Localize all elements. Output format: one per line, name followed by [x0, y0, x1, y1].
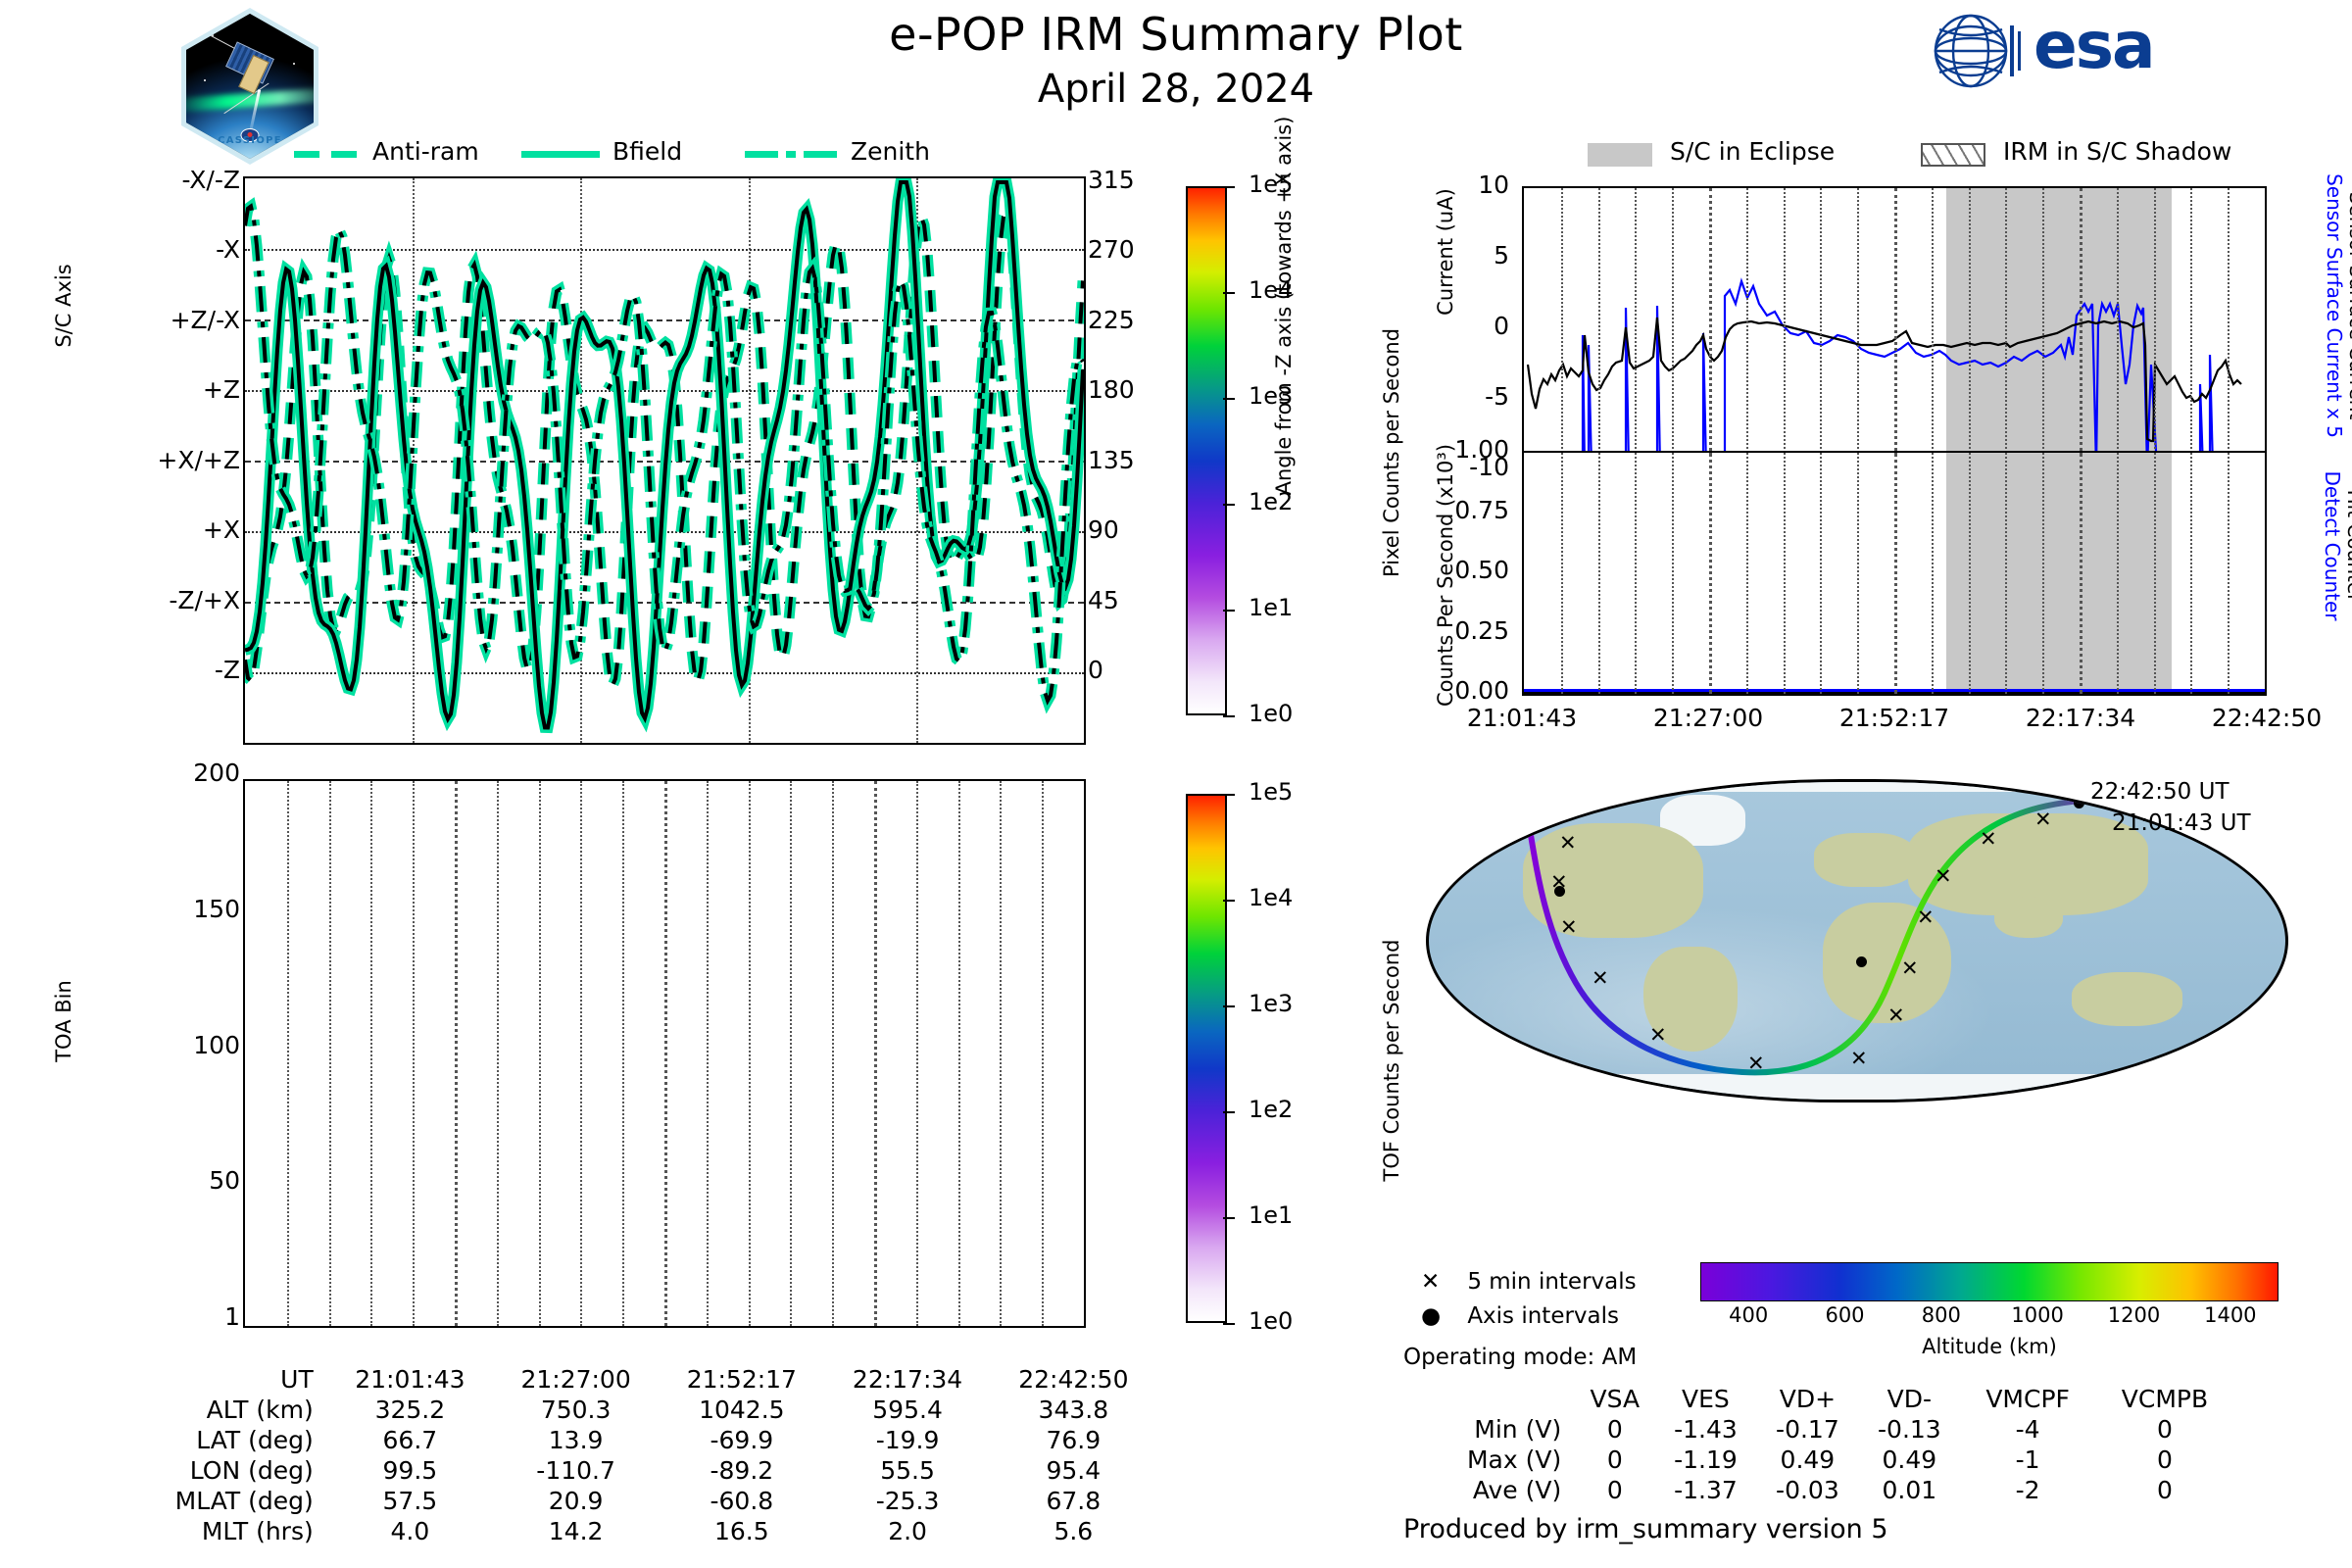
gridline-vertical	[539, 781, 541, 1326]
table-cell: 343.8	[991, 1395, 1156, 1425]
map-key-axis-label: Axis intervals	[1467, 1303, 1619, 1329]
table-row: LAT (deg)66.713.9-69.9-19.976.9	[98, 1425, 1156, 1455]
tick-label: 225	[1088, 306, 1156, 334]
legend-label-anti-ram: Anti-ram	[372, 137, 479, 166]
table-cell: 22:17:34	[824, 1364, 990, 1395]
colorbar-tick-label: 1e2	[1249, 1096, 1293, 1123]
altitude-tick-label: 1000	[1988, 1303, 2086, 1327]
pixel-counts-colorbar-label: Pixel Counts per Second	[1380, 237, 1403, 668]
table-cell: 0.01	[1858, 1475, 1960, 1505]
table-cell: -2	[1960, 1475, 2095, 1505]
table-cell: 55.5	[824, 1455, 990, 1486]
interval-marker: ✕	[1649, 1025, 1667, 1046]
table-cell: -4	[1960, 1414, 2095, 1445]
colorbar-tick-label: 1e5	[1249, 171, 1293, 198]
gridline-vertical	[2190, 188, 2192, 468]
gridline-vertical	[580, 781, 582, 1326]
colorbar-tick-label: 1e4	[1249, 276, 1293, 304]
table-cell: 325.2	[327, 1395, 493, 1425]
tick-label: 0.75	[1401, 496, 1509, 524]
gridline-vertical	[1709, 188, 1712, 468]
legend-swatch-zenith	[745, 151, 778, 158]
legend-swatch-anti-ram	[294, 151, 319, 158]
tick-label: -X	[118, 235, 240, 264]
gridline-vertical	[1709, 453, 1712, 694]
tick-label: -Z/+X	[118, 586, 240, 614]
table-cell: 0	[2095, 1414, 2234, 1445]
colorbar-tick-label: 1e4	[1249, 884, 1293, 911]
table-cell: 67.8	[991, 1486, 1156, 1516]
tick-label: +Z/-X	[118, 306, 240, 334]
row-label: MLT (hrs)	[98, 1516, 327, 1546]
row-label: Max (V)	[1401, 1445, 1575, 1475]
gridline-vertical	[707, 781, 709, 1326]
interval-marker: ✕	[1592, 968, 1609, 989]
table-cell: 21:01:43	[327, 1364, 493, 1395]
tick-label: 0	[1426, 312, 1509, 340]
colorbar-tick	[1223, 1323, 1235, 1325]
table-cell: -89.2	[659, 1455, 824, 1486]
gridline-vertical	[2117, 188, 2119, 468]
interval-marker: ✕	[1747, 1053, 1765, 1074]
table-cell: 1042.5	[659, 1395, 824, 1425]
axis-interval-dot	[1554, 886, 1565, 897]
time-tick-label: 21:27:00	[1630, 704, 1787, 732]
table-cell: 5.6	[991, 1516, 1156, 1546]
interval-marker: ✕	[1560, 917, 1578, 938]
gridline-vertical	[1932, 453, 1934, 694]
shadow-swatch	[1921, 143, 1985, 167]
gridline-vertical	[874, 781, 877, 1326]
altitude-colorbar-label: Altitude (km)	[1700, 1335, 2278, 1358]
ground-track-map[interactable]: ✕ ✕ ✕ ✕ ✕ ✕ ✕ ✕ ✕ ✕ ✕ ✕ ✕ 21:01:43 UT 22…	[1426, 779, 2288, 1102]
colorbar-tick-label: 1e1	[1249, 1201, 1293, 1229]
table-cell: 0.49	[1858, 1445, 1960, 1475]
table-cell: 21:52:17	[659, 1364, 824, 1395]
tof-counts-colorbar	[1186, 794, 1227, 1323]
colorbar-tick	[1223, 794, 1235, 796]
row-label: LAT (deg)	[98, 1425, 327, 1455]
gridline-vertical	[2154, 188, 2156, 468]
table-cell: 99.5	[327, 1455, 493, 1486]
table-cell: 22:42:50	[991, 1364, 1156, 1395]
counts-plot[interactable]	[1522, 451, 2267, 696]
table-cell: 0	[2095, 1445, 2234, 1475]
table-row: MLAT (deg)57.520.9-60.8-25.367.8	[98, 1486, 1156, 1516]
colorbar-tick	[1223, 398, 1235, 400]
sc-axis-legend: Anti-ram Bfield Zenith	[294, 137, 1078, 172]
row-label: MLAT (deg)	[98, 1486, 327, 1516]
tick-label: -X/-Z	[118, 166, 240, 194]
tick-label: 270	[1088, 235, 1156, 264]
legend-label-zenith: Zenith	[851, 137, 930, 166]
gridline-vertical	[2042, 453, 2044, 694]
esa-wordmark: esa	[2033, 8, 2154, 83]
table-cell: -25.3	[824, 1486, 990, 1516]
legend-label-bfield: Bfield	[612, 137, 682, 166]
table-row: UT21:01:4321:27:0021:52:1722:17:3422:42:…	[98, 1364, 1156, 1395]
gridline-vertical	[664, 781, 667, 1326]
table-cell: -1.37	[1654, 1475, 1756, 1505]
gridline-vertical	[1598, 188, 1600, 468]
table-row: ALT (km)325.2750.31042.5595.4343.8	[98, 1395, 1156, 1425]
table-cell: 595.4	[824, 1395, 990, 1425]
tof-counts-colorbar-label: TOF Counts per Second	[1380, 845, 1403, 1276]
gridline-vertical	[1894, 453, 1897, 694]
gridline-vertical	[2042, 188, 2044, 468]
gridline-vertical	[1784, 453, 1786, 694]
table-cell: 0.49	[1756, 1445, 1858, 1475]
interval-marker: ✕	[1887, 1005, 1905, 1026]
sc-axis-ylabel: S/C Axis	[52, 208, 75, 404]
gridline-vertical	[2190, 453, 2192, 694]
tick-label: 0.00	[1401, 676, 1509, 705]
gridline-vertical	[2005, 453, 2007, 694]
gridline-vertical	[832, 781, 834, 1326]
row-label: UT	[98, 1364, 327, 1395]
tick-label: +X	[118, 515, 240, 544]
table-cell: -110.7	[493, 1455, 659, 1486]
gridline-vertical	[1784, 188, 1786, 468]
table-cell: -1	[1960, 1445, 2095, 1475]
legend-swatch-zenith-2	[804, 151, 837, 158]
row-label: Min (V)	[1401, 1414, 1575, 1445]
gridline-vertical	[1635, 453, 1637, 694]
esa-logo: esa	[1916, 12, 2239, 90]
toa-ylabel: TOA Bin	[52, 923, 75, 1119]
time-tick-label: 22:42:50	[2188, 704, 2345, 732]
tick-label: 180	[1088, 375, 1156, 404]
table-cell: -19.9	[824, 1425, 990, 1455]
gridline-vertical	[1672, 188, 1674, 468]
tick-label: 150	[137, 895, 240, 923]
gridline-vertical	[1635, 188, 1637, 468]
gridline-vertical	[329, 781, 331, 1326]
tick-label: 200	[137, 759, 240, 787]
table-cell: 14.2	[493, 1516, 659, 1546]
table-cell: 76.9	[991, 1425, 1156, 1455]
gridline-vertical	[2117, 453, 2119, 694]
table-cell: 0	[1575, 1414, 1654, 1445]
column-header: VSA	[1575, 1384, 1654, 1414]
gridline-vertical	[2080, 188, 2082, 468]
colorbar-tick	[1223, 1005, 1235, 1007]
gridline-vertical	[1561, 188, 1563, 468]
map-end-annotation: 21:01:43 UT	[2112, 810, 2251, 836]
gridline-vertical	[2080, 453, 2082, 694]
tick-label: 5	[1426, 241, 1509, 269]
eclipse-label: S/C in Eclipse	[1670, 137, 1835, 166]
table-cell: 750.3	[493, 1395, 659, 1425]
gridline-vertical	[958, 781, 960, 1326]
table-cell: -69.9	[659, 1425, 824, 1455]
gridline-vertical	[1746, 188, 1748, 468]
legend-swatch-anti-ram-2	[331, 151, 357, 158]
colorbar-tick-label: 1e0	[1249, 1307, 1293, 1335]
tick-label: 1.00	[1401, 435, 1509, 464]
pixel-counts-colorbar-ticks: 1e51e41e31e21e11e0	[1233, 186, 1350, 715]
table-row: Max (V)0-1.190.490.49-10	[1401, 1445, 2234, 1475]
column-header: VD-	[1858, 1384, 1960, 1414]
table-row: Ave (V)0-1.37-0.030.01-20	[1401, 1475, 2234, 1505]
tick-label: 50	[137, 1166, 240, 1195]
footer-text: Produced by irm_summary version 5	[1403, 1514, 1888, 1544]
gridline-vertical	[622, 781, 624, 1326]
tick-label: +X/+Z	[118, 446, 240, 474]
gridline-vertical	[1820, 453, 1822, 694]
shadow-label: IRM in S/C Shadow	[2003, 137, 2231, 166]
gridline-vertical	[2005, 188, 2007, 468]
axis-interval-dot	[1856, 956, 1867, 967]
row-label: ALT (km)	[98, 1395, 327, 1425]
tick-label: 0.25	[1401, 616, 1509, 645]
current-plot[interactable]	[1522, 186, 2267, 470]
tick-label: 10	[1426, 171, 1509, 199]
colorbar-tick	[1223, 292, 1235, 294]
tick-label: 100	[137, 1031, 240, 1059]
voltage-table: VSAVESVD+VD-VMCPFVCMPBMin (V)0-1.43-0.17…	[1401, 1384, 2234, 1505]
pixel-counts-colorbar	[1186, 186, 1227, 715]
sc-axis-plot[interactable]	[243, 176, 1086, 745]
colorbar-tick-label: 1e3	[1249, 382, 1293, 410]
tick-label: 315	[1088, 166, 1156, 194]
counts-right-label-black: Hit Counter	[2343, 428, 2352, 663]
legend-swatch-zenith-dot	[786, 151, 796, 158]
table-cell: -0.03	[1756, 1475, 1858, 1505]
gridline-vertical	[1969, 453, 1971, 694]
gridline-vertical	[455, 781, 458, 1326]
map-key-axis: ● Axis intervals	[1421, 1303, 1619, 1329]
tick-label: 90	[1088, 515, 1156, 544]
colorbar-tick	[1223, 715, 1235, 717]
time-tick-label: 21:52:17	[1816, 704, 1973, 732]
tick-label: -Z	[118, 656, 240, 684]
tick-label: 0	[1088, 656, 1156, 684]
colorbar-tick	[1223, 186, 1235, 188]
table-cell: 95.4	[991, 1455, 1156, 1486]
table-cell: 0	[1575, 1475, 1654, 1505]
header-spacer	[1401, 1384, 1575, 1414]
interval-marker: ✕	[2034, 809, 2052, 830]
toa-bin-plot[interactable]	[243, 779, 1086, 1328]
sc-axis-traces	[245, 178, 1084, 743]
altitude-colorbar	[1700, 1262, 2278, 1301]
table-cell: 4.0	[327, 1516, 493, 1546]
interval-marker: ✕	[1980, 829, 1997, 850]
x-marker-icon: ✕	[1421, 1269, 1460, 1295]
gridline-vertical	[1672, 453, 1674, 694]
gridline-vertical	[2228, 188, 2229, 468]
table-cell: 57.5	[327, 1486, 493, 1516]
column-header: VD+	[1756, 1384, 1858, 1414]
colorbar-tick	[1223, 1111, 1235, 1113]
column-header: VES	[1654, 1384, 1756, 1414]
axis-interval-dot	[2074, 798, 2084, 808]
altitude-tick-label: 1400	[2181, 1303, 2279, 1327]
table-cell: -1.43	[1654, 1414, 1756, 1445]
interval-marker: ✕	[1901, 958, 1919, 979]
table-row: Min (V)0-1.43-0.17-0.13-40	[1401, 1414, 2234, 1445]
gridline-vertical	[1820, 188, 1822, 468]
table-cell: -0.17	[1756, 1414, 1858, 1445]
colorbar-tick	[1223, 900, 1235, 902]
altitude-tick-label: 600	[1796, 1303, 1894, 1327]
ephemeris-table: UT21:01:4321:27:0021:52:1722:17:3422:42:…	[98, 1364, 1156, 1546]
gridline-vertical	[1746, 453, 1748, 694]
current-right-label-blue: Sensor Surface Current x 5	[2323, 159, 2346, 453]
gridline-vertical	[749, 781, 751, 1326]
map-key-5min-label: 5 min intervals	[1467, 1269, 1636, 1295]
tick-label: +Z	[118, 375, 240, 404]
time-tick-label: 21:01:43	[1444, 704, 1600, 732]
table-cell: -0.13	[1858, 1414, 1960, 1445]
table-cell: 66.7	[327, 1425, 493, 1455]
tick-label: -5	[1426, 382, 1509, 411]
row-label: LON (deg)	[98, 1455, 327, 1486]
table-row: MLT (hrs)4.014.216.52.05.6	[98, 1516, 1156, 1546]
gridline-vertical	[287, 781, 289, 1326]
gridline-vertical	[1969, 188, 1971, 468]
gridline-vertical	[370, 781, 372, 1326]
table-row: LON (deg)99.5-110.7-89.255.595.4	[98, 1455, 1156, 1486]
interval-marker: ✕	[1935, 866, 1952, 887]
map-start-annotation: 22:42:50 UT	[2090, 779, 2229, 805]
table-cell: 20.9	[493, 1486, 659, 1516]
column-header: VMCPF	[1960, 1384, 2095, 1414]
interval-marker: ✕	[1559, 833, 1577, 854]
legend-swatch-bfield	[521, 151, 600, 158]
table-cell: 2.0	[824, 1516, 990, 1546]
interval-marker: ✕	[1917, 907, 1935, 928]
table-cell: 0	[1575, 1445, 1654, 1475]
gridline-vertical	[2154, 453, 2156, 694]
colorbar-tick	[1223, 610, 1235, 612]
map-key-5min: ✕ 5 min intervals	[1421, 1269, 1637, 1295]
tof-counts-colorbar-ticks: 1e51e41e31e21e11e0	[1233, 794, 1350, 1323]
colorbar-tick	[1223, 504, 1235, 506]
gridline-vertical	[413, 781, 415, 1326]
tick-label: 135	[1088, 446, 1156, 474]
gridline-vertical	[1894, 188, 1897, 468]
eclipse-swatch	[1588, 143, 1652, 167]
gridline-vertical	[497, 781, 499, 1326]
altitude-tick-label: 400	[1699, 1303, 1797, 1327]
current-right-label-black: Sensor Surface Current	[2345, 159, 2352, 453]
table-cell: 21:27:00	[493, 1364, 659, 1395]
time-tick-label: 22:17:34	[2002, 704, 2159, 732]
colorbar-tick-label: 1e1	[1249, 594, 1293, 621]
gridline-vertical	[2228, 453, 2229, 694]
table-cell: 13.9	[493, 1425, 659, 1455]
gridline-vertical	[1857, 453, 1859, 694]
gridline-vertical	[1932, 188, 1934, 468]
row-label: Ave (V)	[1401, 1475, 1575, 1505]
gridline-vertical	[1042, 781, 1044, 1326]
column-header: VCMPB	[2095, 1384, 2234, 1414]
table-cell: -1.19	[1654, 1445, 1756, 1475]
gridline-vertical	[1598, 453, 1600, 694]
gridline-vertical	[916, 781, 918, 1326]
tick-label: 45	[1088, 586, 1156, 614]
dot-marker-icon: ●	[1421, 1303, 1460, 1329]
colorbar-tick-label: 1e2	[1249, 488, 1293, 515]
altitude-tick-label: 1200	[2085, 1303, 2183, 1327]
colorbar-tick-label: 1e3	[1249, 990, 1293, 1017]
operating-mode: Operating mode: AM	[1403, 1345, 1637, 1370]
table-cell: 16.5	[659, 1516, 824, 1546]
gridline-vertical	[790, 781, 792, 1326]
table-header-row: VSAVESVD+VD-VMCPFVCMPB	[1401, 1384, 2234, 1414]
gridline-vertical	[1561, 453, 1563, 694]
altitude-tick-label: 800	[1892, 1303, 1990, 1327]
colorbar-tick-label: 1e5	[1249, 778, 1293, 806]
gridline-vertical	[1000, 781, 1002, 1326]
shade-legend: S/C in Eclipse IRM in S/C Shadow	[1588, 139, 2332, 172]
table-cell: 0	[2095, 1475, 2234, 1505]
colorbar-tick-label: 1e0	[1249, 700, 1293, 727]
colorbar-tick	[1223, 1217, 1235, 1219]
tick-label: 0.50	[1401, 556, 1509, 584]
tick-label: 1	[137, 1302, 240, 1331]
interval-marker: ✕	[1850, 1049, 1868, 1069]
counts-right-label-blue: Detect Counter	[2321, 428, 2344, 663]
eclipse-shade-counts	[1946, 453, 2172, 694]
gridline-vertical	[1857, 188, 1859, 468]
table-cell: -60.8	[659, 1486, 824, 1516]
